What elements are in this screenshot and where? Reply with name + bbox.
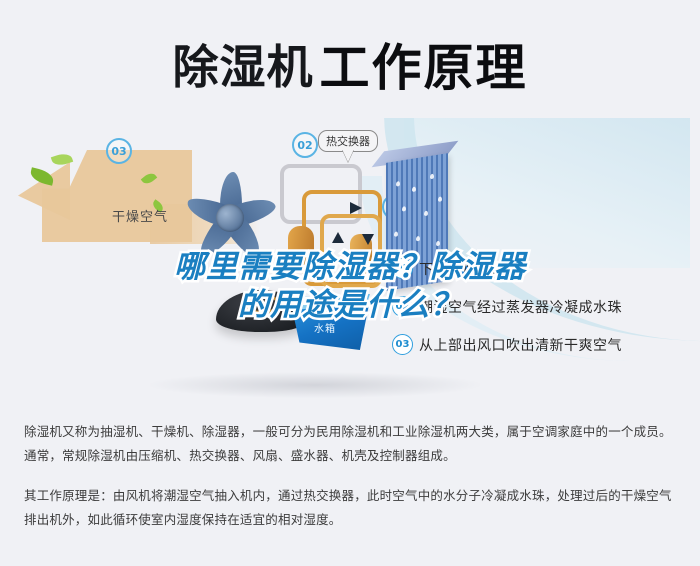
water-tank-label: 水箱 <box>314 320 336 335</box>
water-droplet-icon <box>402 206 406 212</box>
water-droplet-icon <box>436 241 440 247</box>
flow-arrow-down-icon <box>362 234 374 245</box>
housing-ring <box>244 294 280 314</box>
page-title-part1: 除湿机 <box>173 40 314 94</box>
flow-arrow-up-icon <box>332 232 344 243</box>
water-droplet-icon <box>424 211 428 217</box>
water-droplet-icon <box>396 181 400 187</box>
legend-item-label: 下部进风口进风 <box>419 259 521 279</box>
legend-step-badge: 02 <box>392 296 413 317</box>
legend-item-label: 从上部出风口吹出清新干爽空气 <box>419 335 622 355</box>
body-copy: 除湿机又称为抽湿机、干燥机、除湿器，一般可分为民用除湿机和工业除湿机两大类，属于… <box>24 420 676 532</box>
infographic-page: 除湿机工作原理 03 02 01 热交换器 干燥空气 潮湿空气 <box>0 0 700 566</box>
legend-step-badge: 01 <box>392 258 413 279</box>
legend-step-badge: 03 <box>392 334 413 355</box>
fan-assembly <box>178 166 282 270</box>
water-droplet-icon <box>412 186 416 192</box>
legend-item-label: 潮湿空气经过蒸发器冷凝成水珠 <box>419 297 622 317</box>
water-droplet-icon <box>430 174 434 180</box>
water-droplet-icon <box>394 231 398 237</box>
page-title-part2: 工作原理 <box>320 39 528 97</box>
body-paragraph-1: 除湿机又称为抽湿机、干燥机、除湿器，一般可分为民用除湿机和工业除湿机两大类，属于… <box>24 420 676 468</box>
diagram-drop-shadow <box>150 372 480 398</box>
working-principle-diagram: 03 02 01 热交换器 干燥空气 潮湿空气 <box>0 118 700 403</box>
body-paragraph-2: 其工作原理是：由风机将潮湿空气抽入机内，通过热交换器，此时空气中的水分子冷凝成水… <box>24 484 676 532</box>
legend-item: 01 下部进风口进风 <box>392 258 692 279</box>
water-droplet-icon <box>416 236 420 242</box>
page-title: 除湿机工作原理 <box>0 28 700 100</box>
water-droplet-icon <box>438 196 442 202</box>
compressor-coils <box>276 160 396 292</box>
legend-item: 02 潮湿空气经过蒸发器冷凝成水珠 <box>392 296 692 317</box>
leaf-icon <box>29 167 55 185</box>
fan-hub <box>216 204 244 232</box>
compressor-cylinder <box>288 226 314 272</box>
diagram-legend: 01 下部进风口进风 02 潮湿空气经过蒸发器冷凝成水珠 03 从上部出风口吹出… <box>392 258 692 372</box>
dry-air-label: 干燥空气 <box>112 206 168 225</box>
flow-arrow-left-icon <box>350 202 362 214</box>
legend-item: 03 从上部出风口吹出清新干爽空气 <box>392 334 692 355</box>
step-marker-dry-air: 03 <box>106 138 132 164</box>
